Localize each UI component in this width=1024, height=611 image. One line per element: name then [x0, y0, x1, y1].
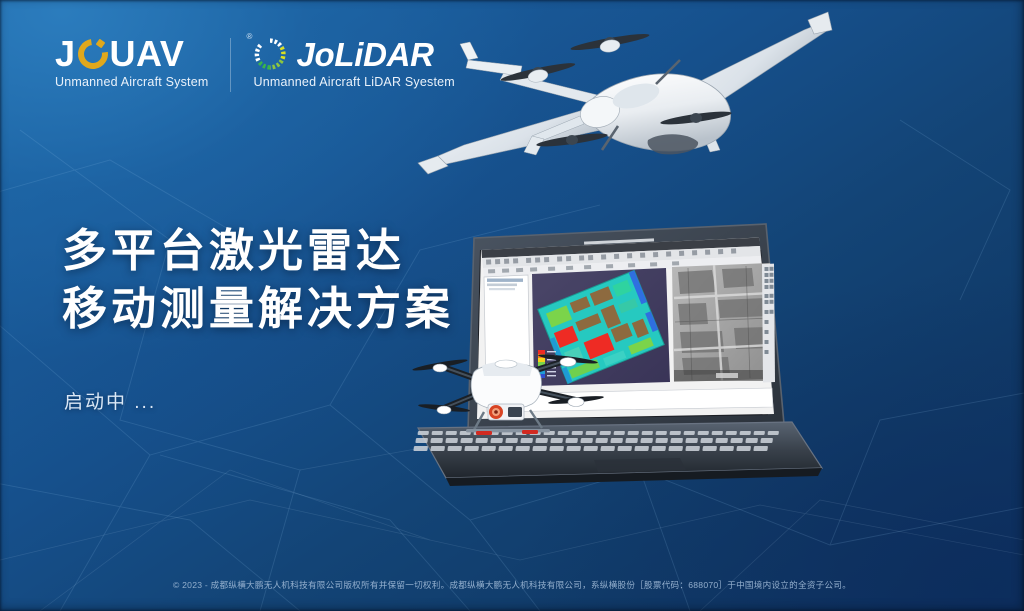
laptop-lidar-software	[413, 224, 822, 486]
logo-divider	[230, 38, 231, 92]
loading-status-text: 启动中 ...	[64, 387, 156, 414]
vtol-fixed-wing-uav	[418, 12, 832, 174]
jouav-ring-icon	[78, 39, 108, 69]
headline-line-2: 移动测量解决方案	[62, 280, 454, 338]
jolidar-ring-icon: ®	[253, 37, 287, 71]
orthophoto-grayscale-imagery	[672, 263, 772, 382]
lidar-payload	[488, 404, 524, 420]
jouav-letter-j: J	[55, 36, 76, 72]
footer-copyright: © 2023 - 成都纵横大鹏无人机科技有限公司版权所有并保留一切权利。成都纵横…	[0, 579, 1024, 591]
hero-headline: 多平台激光雷达 移动测量解决方案	[62, 222, 454, 337]
trademark-symbol: ®	[246, 32, 252, 41]
jouav-logo: J UAV Unmanned Aircraft System	[55, 36, 208, 89]
headline-line-1: 多平台激光雷达	[62, 222, 454, 280]
splash-screen: J UAV Unmanned Aircraft System ®	[0, 0, 1024, 611]
tool-palette	[762, 264, 775, 383]
jouav-letters-uav: UAV	[110, 36, 185, 72]
hero-artwork	[404, 0, 1024, 611]
point-cloud-elevation-map	[532, 268, 670, 386]
jouav-wordmark: J UAV	[55, 36, 208, 72]
logo-bar: J UAV Unmanned Aircraft System ®	[55, 36, 455, 92]
jouav-tagline: Unmanned Aircraft System	[55, 75, 208, 89]
